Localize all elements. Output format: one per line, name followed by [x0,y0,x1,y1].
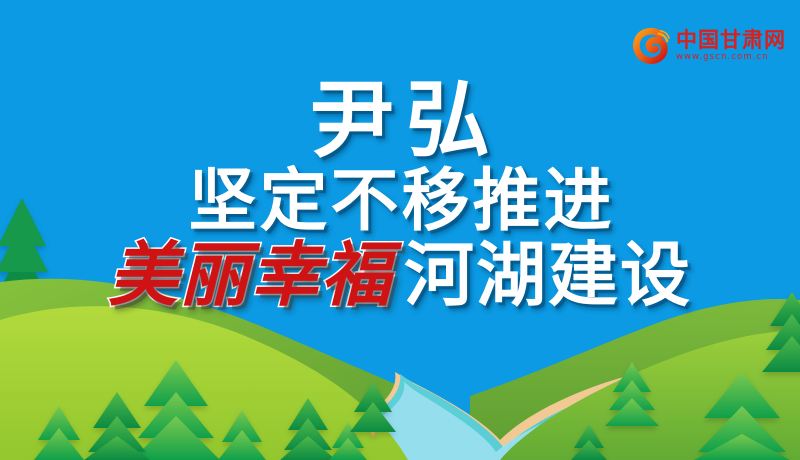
logo-site-name: 中国甘肃网 [676,29,786,52]
headline-line-1: 尹弘 [0,78,800,162]
headline-line-3-white: 河湖建设 [404,240,692,310]
headline-line-3-red: 美丽幸福 [108,240,392,310]
gansu-swoosh-logo-icon [632,26,670,64]
headline-line-2: 坚定不移推进 [0,168,800,236]
poster-banner: 中国甘肃网 www.gscn.com.cn 尹弘 坚定不移推进 美丽幸福 河湖建… [0,0,800,460]
site-logo[interactable]: 中国甘肃网 www.gscn.com.cn [632,22,786,68]
headline-block: 尹弘 坚定不移推进 美丽幸福 河湖建设 [0,78,800,310]
logo-text-block: 中国甘肃网 www.gscn.com.cn [676,29,786,62]
logo-site-url: www.gscn.com.cn [676,52,786,62]
headline-line-3: 美丽幸福 河湖建设 [0,240,800,310]
